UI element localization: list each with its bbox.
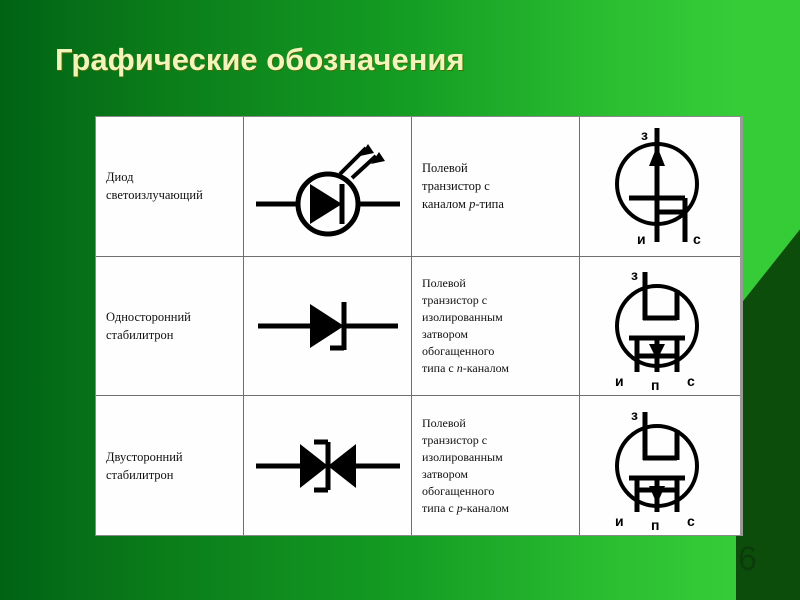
mosfet-p-channel-enhancement-symbol: з и п с [585, 400, 735, 532]
jfet-p-channel-symbol: з и с [585, 122, 735, 250]
cell-label-zener: Односторонний стабилитрон [96, 257, 244, 396]
terminal-label-drain: с [693, 231, 701, 247]
label-jfet-p-line3-post: -типа [475, 197, 504, 211]
terminal-label-gate: з [631, 267, 638, 283]
mosfet-n-channel-enhancement-symbol: з и п с [585, 260, 735, 392]
label-mosfet-p-line5: обогащенного [422, 484, 494, 498]
cell-label-jfet-p: Полевой транзистор с каналом p-типа [412, 117, 580, 256]
bidirectional-zener-diode-symbol [248, 416, 408, 516]
label-mosfet-n-line4: затвором [422, 327, 468, 341]
label-mosfet-n-line2: транзистор с [422, 293, 487, 307]
page-title: Графические обозначения [55, 42, 465, 78]
label-mosfet-n-line1: Полевой [422, 276, 466, 290]
cell-symbol-bidir-zener [244, 396, 412, 535]
label-jfet-p-line2: транзистор с [422, 179, 490, 193]
table-row: Односторонний стабилитрон Полевой транзи… [96, 257, 740, 397]
terminal-label-gate: з [641, 127, 648, 143]
label-mosfet-n-line5: обогащенного [422, 344, 494, 358]
light-emitting-diode-symbol [248, 126, 408, 246]
terminal-label-source: и [615, 373, 624, 389]
terminal-label-drain: с [687, 513, 695, 529]
cell-symbol-mosfet-p: з и п с [580, 396, 740, 535]
cell-label-mosfet-n: Полевой транзистор с изолированным затво… [412, 257, 580, 396]
table-row: Двусторонний стабилитрон Полевой транзис… [96, 396, 740, 535]
label-mosfet-n-line6-pre: типа с [422, 361, 457, 375]
cell-symbol-led [244, 117, 412, 256]
slide-canvas: Графические обозначения 6 Диод светоизлу… [0, 0, 800, 600]
terminal-label-source: и [615, 513, 624, 529]
terminal-label-drain: с [687, 373, 695, 389]
label-mosfet-p: Полевой транзистор с изолированным затво… [422, 415, 509, 517]
label-jfet-p-line3-pre: каналом [422, 197, 469, 211]
cell-symbol-mosfet-n: з и п с [580, 257, 740, 396]
label-mosfet-n-line6-post: -каналом [463, 361, 509, 375]
label-mosfet-p-line2: транзистор с [422, 433, 487, 447]
terminal-label-source: и [637, 231, 646, 247]
label-bidir-zener: Двусторонний стабилитрон [106, 448, 233, 484]
cell-symbol-jfet-p: з и с [580, 117, 740, 256]
terminal-label-gate: з [631, 407, 638, 423]
terminal-label-substrate: п [651, 517, 659, 532]
label-led: Диод светоизлучающий [106, 168, 233, 204]
unidirectional-zener-diode-symbol [248, 276, 408, 376]
cell-label-led: Диод светоизлучающий [96, 117, 244, 256]
symbol-table: Диод светоизлучающий [95, 116, 743, 536]
label-mosfet-p-line4: затвором [422, 467, 468, 481]
label-mosfet-p-line6-post: -каналом [463, 501, 509, 515]
page-number: 6 [738, 540, 757, 579]
label-mosfet-p-line3: изолированным [422, 450, 503, 464]
label-zener: Односторонний стабилитрон [106, 308, 233, 344]
label-mosfet-p-line1: Полевой [422, 416, 466, 430]
cell-symbol-zener [244, 257, 412, 396]
terminal-label-substrate: п [651, 377, 659, 392]
label-mosfet-n: Полевой транзистор с изолированным затво… [422, 275, 509, 377]
label-mosfet-p-line6-pre: типа с [422, 501, 457, 515]
label-jfet-p: Полевой транзистор с каналом p-типа [422, 159, 504, 213]
table-row: Диод светоизлучающий [96, 117, 740, 257]
label-mosfet-n-line3: изолированным [422, 310, 503, 324]
cell-label-bidir-zener: Двусторонний стабилитрон [96, 396, 244, 535]
label-jfet-p-line1: Полевой [422, 161, 468, 175]
cell-label-mosfet-p: Полевой транзистор с изолированным затво… [412, 396, 580, 535]
